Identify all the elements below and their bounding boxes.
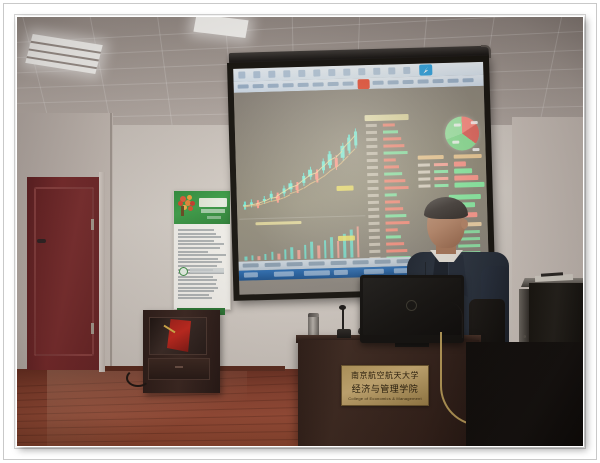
flow-bar [454, 168, 472, 174]
poster-text-line [178, 290, 214, 292]
quote-value [386, 242, 404, 246]
quote-label [366, 138, 377, 141]
toolbar-icon[interactable] [253, 71, 260, 78]
quote-value [385, 200, 400, 203]
ceiling-light-panel [193, 17, 248, 38]
ma-long-line [290, 192, 297, 195]
door-panel [34, 187, 94, 356]
status-item [364, 269, 384, 275]
candlestick-chart[interactable] [237, 115, 367, 268]
plaque-university-name: 南京航空航天大学 [351, 370, 419, 381]
quote-value [385, 193, 397, 196]
quote-value [383, 130, 398, 133]
flow-row-label [418, 177, 430, 180]
volume-bar [291, 247, 294, 259]
price-tag-label [336, 186, 353, 191]
drawer-handle[interactable] [175, 366, 183, 368]
volume-bar [284, 249, 287, 259]
plaque-college-name: 经济与管理学院 [352, 382, 419, 395]
status-item [304, 270, 330, 276]
menu-item[interactable] [463, 78, 474, 82]
poster-caption-bar [207, 216, 221, 219]
menu-item[interactable] [283, 83, 294, 87]
alert-button[interactable] [358, 79, 370, 89]
menu-item[interactable] [253, 84, 264, 88]
microphone-stem [342, 308, 344, 330]
quote-label [369, 229, 380, 232]
seal-icon [179, 267, 188, 276]
presenter-hair [424, 197, 468, 219]
toolbar-icon[interactable] [403, 67, 410, 74]
quote-label [368, 215, 379, 218]
volume-bar [337, 240, 340, 258]
poster-text-line [178, 243, 224, 245]
volume-bar [304, 245, 307, 259]
quote-value [385, 186, 409, 190]
volume-bar [251, 256, 254, 261]
pie-slice-label [454, 123, 461, 126]
menu-item[interactable] [268, 84, 279, 88]
volume-bar [350, 230, 353, 258]
poster-text-line [178, 254, 226, 256]
flow-header [418, 155, 444, 160]
poster-text-line [178, 229, 214, 231]
poster-text-line [178, 287, 218, 289]
ma-long-line [310, 181, 317, 185]
quote-label [366, 145, 377, 148]
volume-bar [258, 256, 261, 260]
tab-item[interactable] [243, 263, 259, 267]
ceiling-light-panel [25, 34, 102, 74]
menu-item[interactable] [388, 80, 399, 84]
quote-label [368, 194, 379, 197]
quote-label [367, 173, 378, 176]
tab-item[interactable] [287, 262, 303, 266]
volume-bar [310, 242, 313, 259]
flow-header [454, 154, 482, 159]
floor-cable [126, 369, 150, 387]
app-logo-icon [419, 64, 432, 75]
toolbar-icon[interactable] [298, 70, 305, 77]
poster-text-line [178, 240, 214, 242]
poster-subtitle-bar [201, 209, 225, 213]
quote-value [385, 207, 403, 211]
poster-text-line [178, 261, 222, 263]
tab-item[interactable] [375, 260, 391, 264]
door-hinge-icon [91, 323, 94, 334]
quote-label [368, 208, 379, 211]
toolbar-icon[interactable] [343, 69, 350, 76]
volume-bar [271, 251, 274, 259]
quote-value [384, 179, 405, 183]
quote-label [369, 236, 380, 239]
tab-item[interactable] [309, 261, 325, 265]
menu-item[interactable] [418, 79, 429, 83]
quote-value [386, 228, 398, 231]
poster-text-line [178, 297, 212, 299]
photo-viewport: 南京航空航天大学 经济与管理学院 College of Economics & … [17, 17, 583, 446]
quote-label [369, 243, 380, 246]
microphone-base [337, 329, 351, 338]
menu-item[interactable] [373, 81, 384, 85]
tree-trunk-icon [181, 206, 184, 216]
tab-item[interactable] [331, 261, 347, 265]
room-door[interactable] [27, 177, 101, 370]
poster-title-art [199, 198, 227, 207]
ceiling-grid-line [17, 17, 583, 43]
poster-text-line [178, 279, 217, 281]
framed-photograph: 南京航空航天大学 经济与管理学院 College of Economics & … [0, 0, 600, 463]
candlestick-body [354, 131, 358, 145]
quote-label [367, 152, 378, 155]
thermos-cap [308, 313, 319, 317]
quote-value [383, 137, 401, 141]
flow-row-value [434, 170, 448, 173]
tab-item[interactable] [353, 260, 369, 264]
menu-item[interactable] [343, 81, 354, 85]
volume-bar [244, 257, 247, 261]
door-jamb [99, 172, 105, 372]
flow-bar [454, 175, 478, 181]
volume-bar [264, 254, 267, 261]
poster-text-line [178, 247, 220, 249]
volume-bar [324, 240, 327, 258]
poster-text-line [178, 283, 216, 285]
flow-bar [454, 182, 484, 188]
quote-label [368, 222, 379, 225]
display-cabinet[interactable] [143, 310, 220, 393]
poster-header [174, 191, 230, 224]
quote-label [368, 187, 379, 190]
menu-item[interactable] [403, 80, 414, 84]
poster-text-line [178, 276, 213, 278]
red-cloth-item [167, 319, 191, 352]
volume-bar [278, 254, 281, 260]
toolbar-icon[interactable] [388, 67, 395, 74]
quote-value [383, 123, 395, 126]
foreground-dark-mass [466, 342, 583, 446]
flow-row-value [434, 163, 448, 166]
stock-name-header [365, 114, 409, 121]
cabinet-drawer[interactable] [148, 358, 210, 380]
volume-bar [317, 246, 320, 259]
poster-text-line [178, 294, 209, 296]
poster-footer-bar [190, 268, 224, 273]
poster-text-line [178, 251, 208, 253]
wall-corner [110, 113, 112, 405]
flow-row-value [434, 184, 448, 187]
tree-leaf-icon [188, 206, 193, 211]
poster-text-line [178, 258, 218, 260]
quote-label [367, 166, 378, 169]
indicator-label [255, 221, 301, 225]
toolbar-icon[interactable] [358, 68, 365, 75]
quote-label [366, 131, 377, 134]
toolbar-icon[interactable] [313, 69, 320, 76]
door-handle[interactable] [37, 239, 46, 243]
menu-item[interactable] [313, 82, 324, 86]
flow-row-label [418, 184, 430, 187]
toolbar-icon[interactable] [373, 68, 380, 75]
quote-value [384, 151, 408, 155]
chart-divider [239, 215, 365, 220]
quote-label [369, 250, 380, 253]
quote-label [367, 159, 378, 162]
menu-item[interactable] [328, 82, 339, 86]
quote-label [366, 124, 377, 127]
poster-text-line [178, 233, 216, 235]
volume-bar [356, 226, 359, 257]
standee-poster [173, 190, 231, 310]
plaque-college-name-en: College of Economics & Management [348, 396, 422, 401]
microphone-icon[interactable] [339, 305, 346, 310]
cabinet-lock-icon[interactable] [523, 335, 526, 338]
flow-bar [454, 161, 466, 166]
toolbar-icon[interactable] [328, 69, 335, 76]
toolbar-icon[interactable] [268, 71, 275, 78]
volume-bar [297, 250, 300, 259]
poster-text-line [178, 236, 221, 238]
status-item [274, 271, 294, 277]
quote-value [384, 172, 402, 176]
monitor-brand-icon [406, 300, 417, 311]
pie-slice-label [452, 141, 459, 144]
presenter-ear [461, 219, 468, 229]
ma-short-line [296, 180, 303, 186]
podium-plaque: 南京航空航天大学 经济与管理学院 College of Economics & … [341, 365, 429, 406]
toolbar-icon[interactable] [283, 70, 290, 77]
quote-value [383, 144, 404, 148]
status-item [334, 270, 348, 275]
pie-slice-label [471, 121, 478, 124]
quote-value [384, 165, 399, 168]
quote-value [386, 235, 401, 238]
toolbar-icon[interactable] [238, 71, 245, 78]
quote-value [385, 214, 406, 218]
tab-item[interactable] [265, 263, 281, 267]
volume-bar [330, 237, 333, 258]
menu-item[interactable] [238, 84, 249, 88]
quote-value [384, 158, 396, 161]
pie-slice-label [472, 148, 479, 151]
flow-row-value [434, 177, 448, 180]
status-item [244, 272, 258, 277]
menu-item[interactable] [433, 79, 444, 83]
flow-row-label [418, 163, 430, 166]
price-tag-label [338, 235, 355, 240]
quote-label [368, 201, 379, 204]
quote-label [367, 180, 378, 183]
menu-item[interactable] [298, 83, 309, 87]
menu-item[interactable] [448, 79, 459, 83]
flow-row-label [418, 170, 430, 173]
door-hinge-icon [91, 219, 94, 230]
